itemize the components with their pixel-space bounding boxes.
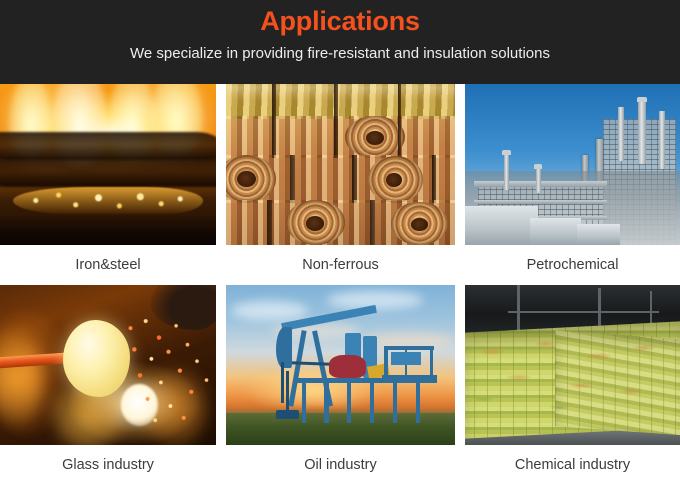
fertilizer-bags-photo[interactable] [465,285,680,445]
page-header: Applications We specialize in providing … [0,0,680,84]
gallery-row-2: Glass industry [0,285,680,486]
gallery-caption: Non-ferrous [226,245,455,285]
applications-gallery: Iron&steel [0,84,680,486]
copper-coils-photo[interactable] [226,84,455,245]
gallery-caption: Oil industry [226,445,455,485]
gallery-caption: Iron&steel [0,245,216,285]
gallery-item-chemical-industry[interactable]: Chemical industry [465,285,680,486]
gallery-item-iron-steel[interactable]: Iron&steel [0,84,216,285]
gallery-row-1: Iron&steel [0,84,680,285]
molten-glass-photo[interactable] [0,285,216,445]
gallery-caption: Glass industry [0,445,216,485]
oil-pumpjack-photo[interactable] [226,285,455,445]
gallery-item-oil-industry[interactable]: Oil industry [226,285,455,486]
gallery-item-petrochemical[interactable]: Petrochemical [465,84,680,285]
gallery-caption: Chemical industry [465,445,680,485]
furnace-fire-photo[interactable] [0,84,216,245]
page-subtitle: We specialize in providing fire-resistan… [0,44,680,64]
gallery-item-glass-industry[interactable]: Glass industry [0,285,216,486]
gallery-item-non-ferrous[interactable]: Non-ferrous [226,84,455,285]
page-title: Applications [0,5,680,38]
refinery-plant-photo[interactable] [465,84,680,245]
gallery-caption: Petrochemical [465,245,680,285]
